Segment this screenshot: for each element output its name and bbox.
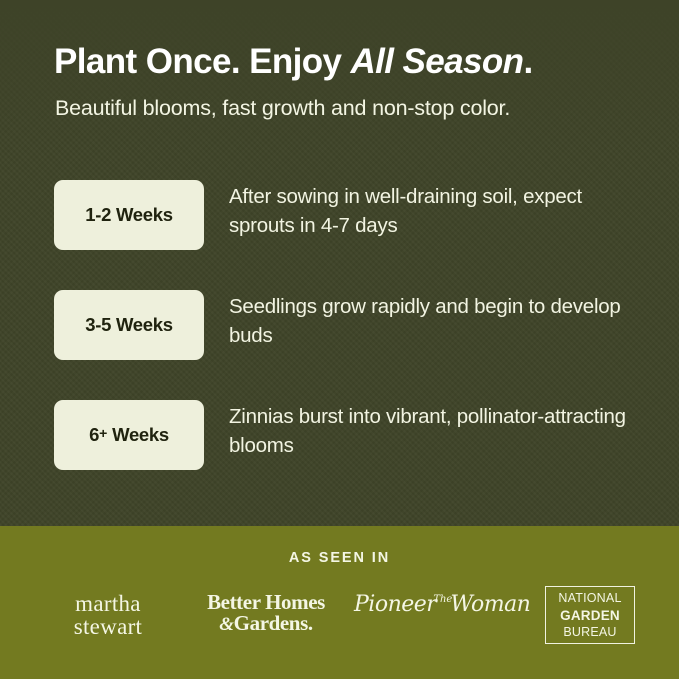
timeline-badge-label: 6+ Weeks (89, 424, 169, 446)
page-title: Plant Once. Enjoy All Season. (54, 42, 654, 81)
hero-section: Plant Once. Enjoy All Season. Beautiful … (0, 0, 679, 526)
logo-national-garden-bureau: NATIONAL GARDEN BUREAU (545, 586, 635, 644)
timeline-badge-1-2-weeks: 1-2 Weeks (54, 180, 204, 250)
timeline-description: Seedlings grow rapidly and begin to deve… (229, 292, 649, 350)
logo-better-homes-and-gardens: Better Homes &Gardens. (186, 592, 346, 634)
page-subtitle: Beautiful blooms, fast growth and non-st… (55, 95, 665, 122)
growth-timeline-list: 1-2 Weeks After sowing in well-draining … (0, 170, 679, 500)
press-logo-strip: martha stewart Better Homes &Gardens. Pi… (0, 584, 679, 656)
timeline-row: 1-2 Weeks After sowing in well-draining … (0, 170, 679, 280)
logo-line-2: stewart (32, 615, 184, 638)
logo-line-2: GARDEN (560, 607, 620, 625)
timeline-badge-unit: Weeks (107, 424, 169, 445)
zinnia-growth-timeline-infographic: Plant Once. Enjoy All Season. Beautiful … (0, 0, 679, 679)
timeline-badge-6-plus-weeks: 6+ Weeks (54, 400, 204, 470)
headline-text-lead: Plant Once. Enjoy (54, 42, 351, 81)
logo-martha-stewart: martha stewart (32, 592, 184, 639)
timeline-badge-3-5-weeks: 3-5 Weeks (54, 290, 204, 360)
logo-line-1: martha (32, 592, 184, 615)
logo-line-1: Better Homes (186, 592, 346, 613)
as-seen-in-heading: AS SEEN IN (0, 550, 679, 566)
headline-text-emphasis: All Season (351, 42, 524, 81)
press-section: AS SEEN IN martha stewart Better Homes &… (0, 526, 679, 679)
ampersand-glyph: & (219, 614, 233, 635)
logo-word-2: Woman (450, 592, 530, 617)
logo-line-2-word: Gardens. (234, 611, 313, 635)
logo-line-1: NATIONAL (558, 590, 621, 607)
timeline-badge-label: 3-5 Weeks (85, 314, 172, 336)
logo-line-2: &Gardens. (186, 613, 346, 634)
logo-word-1: Pioneer (354, 592, 436, 617)
timeline-description: After sowing in well-draining soil, expe… (229, 182, 649, 240)
logo-the-pioneer-woman: PioneerTheWoman (354, 594, 519, 616)
timeline-badge-label: 1-2 Weeks (85, 204, 172, 226)
timeline-row: 3-5 Weeks Seedlings grow rapidly and beg… (0, 280, 679, 390)
timeline-row: 6+ Weeks Zinnias burst into vibrant, pol… (0, 390, 679, 500)
timeline-badge-number: 6 (89, 424, 99, 445)
logo-line-3: BUREAU (563, 624, 616, 641)
timeline-description: Zinnias burst into vibrant, pollinator-a… (229, 402, 649, 460)
headline-text-period: . (523, 42, 532, 81)
